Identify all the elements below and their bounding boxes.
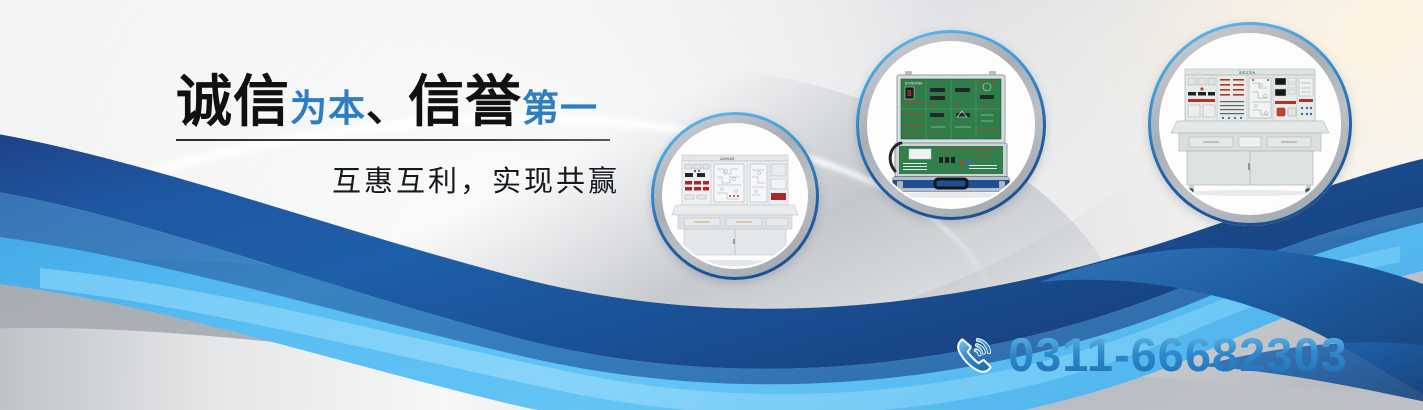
slogan-part-1: 诚信 xyxy=(176,74,290,130)
slogan-punctuation: 、 xyxy=(366,86,408,130)
product-circle-1[interactable]: · · · ·实训考核装置 xyxy=(651,112,819,280)
slogan-subtitle: 互惠互利，实现共赢 xyxy=(176,158,620,200)
svg-text:数字电路实验模块: 数字电路实验模块 xyxy=(905,81,923,85)
svg-text:· · · · ·: · · · · · xyxy=(1194,72,1202,75)
svg-text:实训考核装置: 实训考核装置 xyxy=(720,156,735,160)
product-circle-3[interactable]: · · · · ·电 机 实 验 台 xyxy=(1148,22,1352,226)
svg-text:8: 8 xyxy=(907,89,912,98)
slogan-part-2: 为本 xyxy=(290,90,366,130)
product-image-experiment-console: · · · · ·电 机 实 验 台 xyxy=(1161,35,1339,213)
slogan-block: 诚信 为本 、 信誉 第一 互惠互利，实现共赢 xyxy=(176,74,620,200)
slogan-headline: 诚信 为本 、 信誉 第一 xyxy=(176,74,620,130)
phone-number-text: 0311-66682303 xyxy=(1008,328,1348,381)
contact-phone-block[interactable]: 0311-66682303 xyxy=(952,327,1348,382)
phone-number[interactable]: 0311-66682303 xyxy=(1008,327,1348,382)
svg-text:电 机 实 验 台: 电 机 实 验 台 xyxy=(1239,71,1256,75)
product-image-training-case: 数字电路实验模块 8 xyxy=(869,43,1033,207)
svg-text:· · · ·: · · · · xyxy=(690,157,696,160)
slogan-part-4: 第一 xyxy=(522,90,598,130)
promo-banner: 诚信 为本 、 信誉 第一 互惠互利，实现共赢 · · · ·实训考核装置 xyxy=(0,0,1423,410)
slogan-divider-rule xyxy=(176,139,610,141)
product-image-workbench: · · · ·实训考核装置 xyxy=(664,125,806,267)
product-circle-2[interactable]: 数字电路实验模块 8 xyxy=(856,30,1046,220)
phone-call-icon xyxy=(952,332,997,377)
slogan-part-3: 信誉 xyxy=(408,74,522,130)
